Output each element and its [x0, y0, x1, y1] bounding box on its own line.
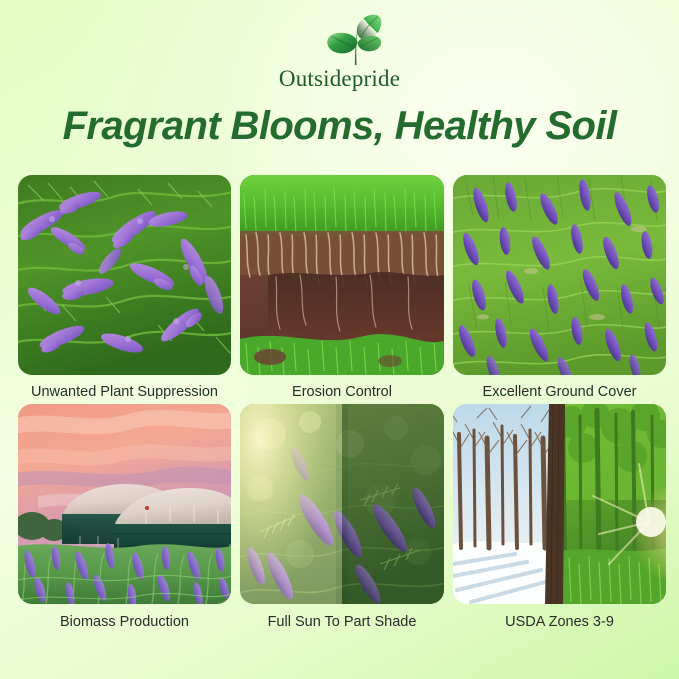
- brand-name: Outsidepride: [279, 67, 400, 90]
- brand-logo: Outsidepride: [0, 14, 679, 100]
- infographic-page: Outsidepride Fragrant Blooms, Healthy So…: [0, 0, 679, 679]
- biogas-domes-sunset-photo: [18, 404, 231, 604]
- sun-and-shade-split-photo: [240, 404, 444, 604]
- feature-card-usda-zones: USDA Zones 3-9: [453, 404, 666, 631]
- seedling-leaves-icon: [310, 14, 396, 66]
- feature-caption: Unwanted Plant Suppression: [31, 384, 218, 401]
- feature-grid: Unwanted Plant Suppression: [18, 175, 661, 632]
- feature-caption: Excellent Ground Cover: [483, 384, 637, 401]
- feature-card-erosion-control: Erosion Control: [240, 175, 444, 401]
- feature-card-excellent-ground-cover: Excellent Ground Cover: [453, 175, 666, 401]
- page-title: Fragrant Blooms, Healthy Soil: [0, 104, 679, 149]
- feature-caption: Biomass Production: [60, 614, 189, 631]
- feature-caption: Erosion Control: [292, 384, 392, 401]
- purple-vetch-flowers-photo: [18, 175, 231, 375]
- feature-card-unwanted-plant-suppression: Unwanted Plant Suppression: [18, 175, 231, 401]
- feature-card-biomass-production: Biomass Production: [18, 404, 231, 631]
- winter-summer-forest-split-photo: [453, 404, 666, 604]
- feature-caption: USDA Zones 3-9: [505, 614, 614, 631]
- soil-erosion-cross-section-photo: [240, 175, 444, 375]
- feature-card-full-sun-to-part-shade: Full Sun To Part Shade: [240, 404, 444, 631]
- feature-caption: Full Sun To Part Shade: [268, 614, 417, 631]
- dense-ground-cover-photo: [453, 175, 666, 375]
- logo-leaf-upper: [356, 15, 380, 40]
